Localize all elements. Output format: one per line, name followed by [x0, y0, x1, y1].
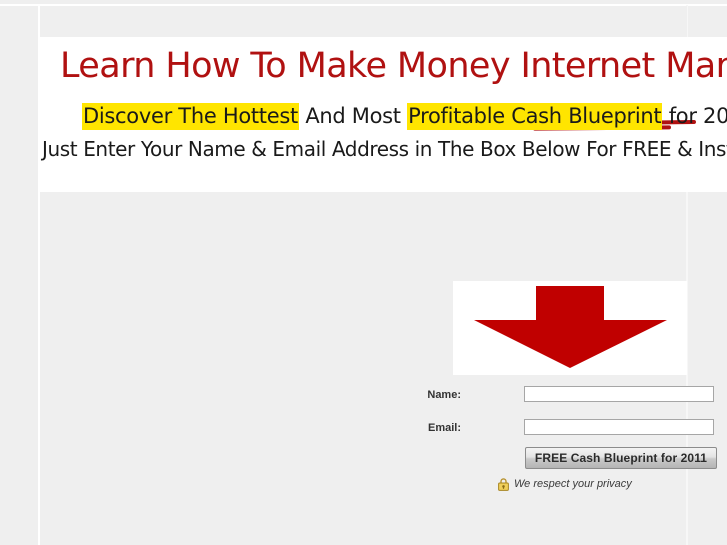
subheadline: Discover The Hottest And Most Profitable… — [82, 104, 727, 128]
form-row-name: Name: — [415, 386, 727, 407]
privacy-note: We respect your privacy — [498, 476, 632, 492]
page-tagline: Just Enter Your Name & Email Address in … — [42, 137, 727, 161]
email-label: Email: — [415, 422, 461, 434]
page-headline: Learn How To Make Money Internet Marketi… — [60, 46, 727, 86]
submit-button[interactable]: FREE Cash Blueprint for 2011 — [525, 447, 717, 469]
privacy-text: We respect your privacy — [514, 478, 632, 490]
optin-form: Name: Email: FREE Cash Blueprint for 201… — [415, 386, 727, 496]
subheadline-highlight-first: Discover The Hottest — [82, 103, 299, 130]
name-input[interactable] — [524, 386, 714, 402]
email-input[interactable] — [524, 419, 714, 435]
header-top-spacer — [40, 6, 687, 37]
down-arrow-icon — [472, 284, 668, 370]
arrow-panel — [453, 281, 687, 375]
lock-icon — [498, 478, 509, 491]
form-row-email: Email: — [415, 419, 727, 440]
subheadline-plain-second: for 2011. — [662, 104, 727, 128]
subheadline-plain-first: And Most — [299, 104, 407, 128]
name-label: Name: — [415, 389, 461, 401]
subheadline-highlight-second: Profitable Cash Blueprint — [407, 103, 662, 130]
header-panel: Learn How To Make Money Internet Marketi… — [40, 37, 727, 192]
